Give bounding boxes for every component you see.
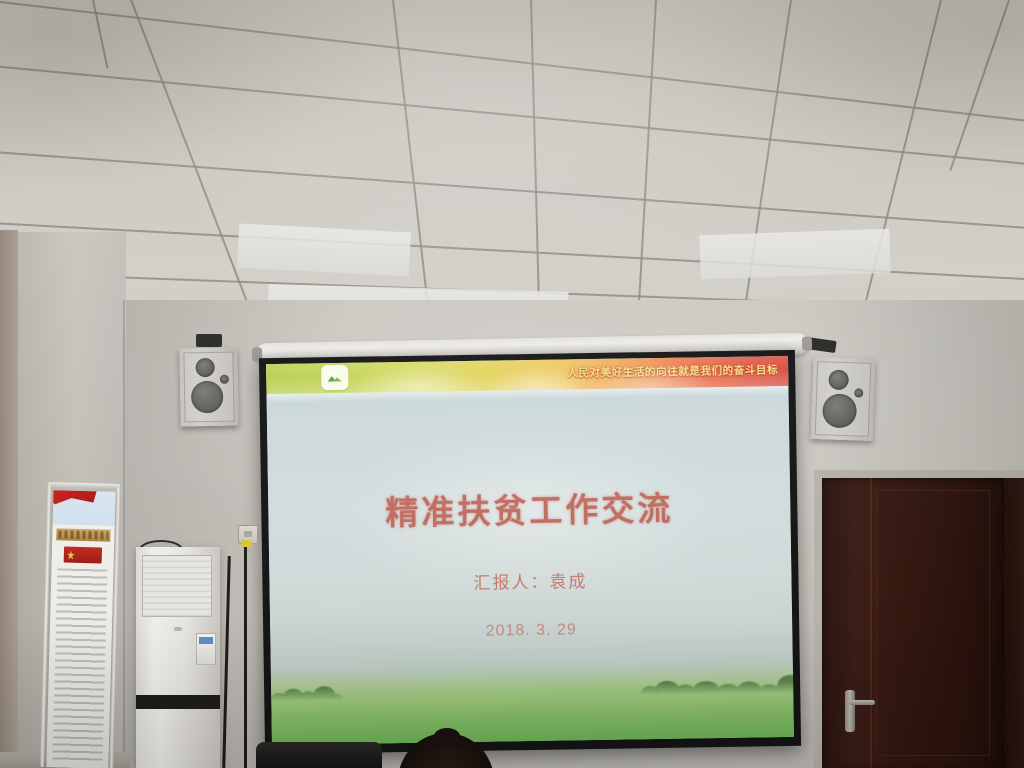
slide-title: 精准扶贫工作交流 (268, 480, 791, 536)
attendee-hair-tuft (434, 728, 460, 744)
banner-sheet (46, 490, 115, 768)
ceiling-light-panel (699, 229, 890, 280)
banner-sky-graphic (53, 490, 116, 526)
projected-slide: 人民对美好生活的向往就是我们的奋斗目标 精准扶贫工作交流 汇报人：袁成 2018… (266, 356, 794, 745)
ac-vent-grille (142, 555, 212, 617)
ac-display-strip (199, 637, 213, 644)
speaker-left (179, 347, 238, 426)
ac-trim-band (136, 695, 220, 709)
door-handle-plate[interactable] (845, 690, 855, 732)
banner-badge (64, 547, 102, 564)
speaker-port-icon (220, 375, 229, 384)
speaker-bracket-left (196, 334, 222, 347)
door-handle-lever[interactable] (849, 700, 875, 705)
ac-control-panel[interactable] (196, 633, 216, 665)
banner-headline-bar (56, 528, 110, 541)
slide-field (271, 681, 794, 745)
red-flag-icon (49, 490, 98, 513)
power-cable (244, 547, 247, 768)
chair-back (256, 742, 382, 768)
air-conditioner[interactable] (136, 547, 220, 768)
ac-base-panel (136, 709, 220, 768)
roll-up-banner-stand (40, 482, 122, 768)
wall-corner-shadow (123, 300, 126, 768)
ceiling-light-panel (237, 224, 411, 277)
left-wall-edge (0, 230, 18, 768)
door-stile (870, 478, 872, 768)
speaker-right (811, 357, 876, 441)
ac-brand-logo-icon (174, 627, 182, 631)
meeting-room-photo: 人民对美好生活的向往就是我们的奋斗目标 精准扶贫工作交流 汇报人：袁成 2018… (0, 0, 1024, 768)
slide-banner-slogan: 人民对美好生活的向往就是我们的奋斗目标 (567, 362, 778, 380)
mountain-cloud-logo-icon (321, 365, 348, 390)
roller-end-cap (802, 337, 812, 351)
projection-screen[interactable]: 人民对美好生活的向往就是我们的奋斗目标 精准扶贫工作交流 汇报人：袁成 2018… (259, 350, 801, 754)
banner-top-rail (50, 482, 119, 489)
banner-body-text (52, 568, 107, 764)
